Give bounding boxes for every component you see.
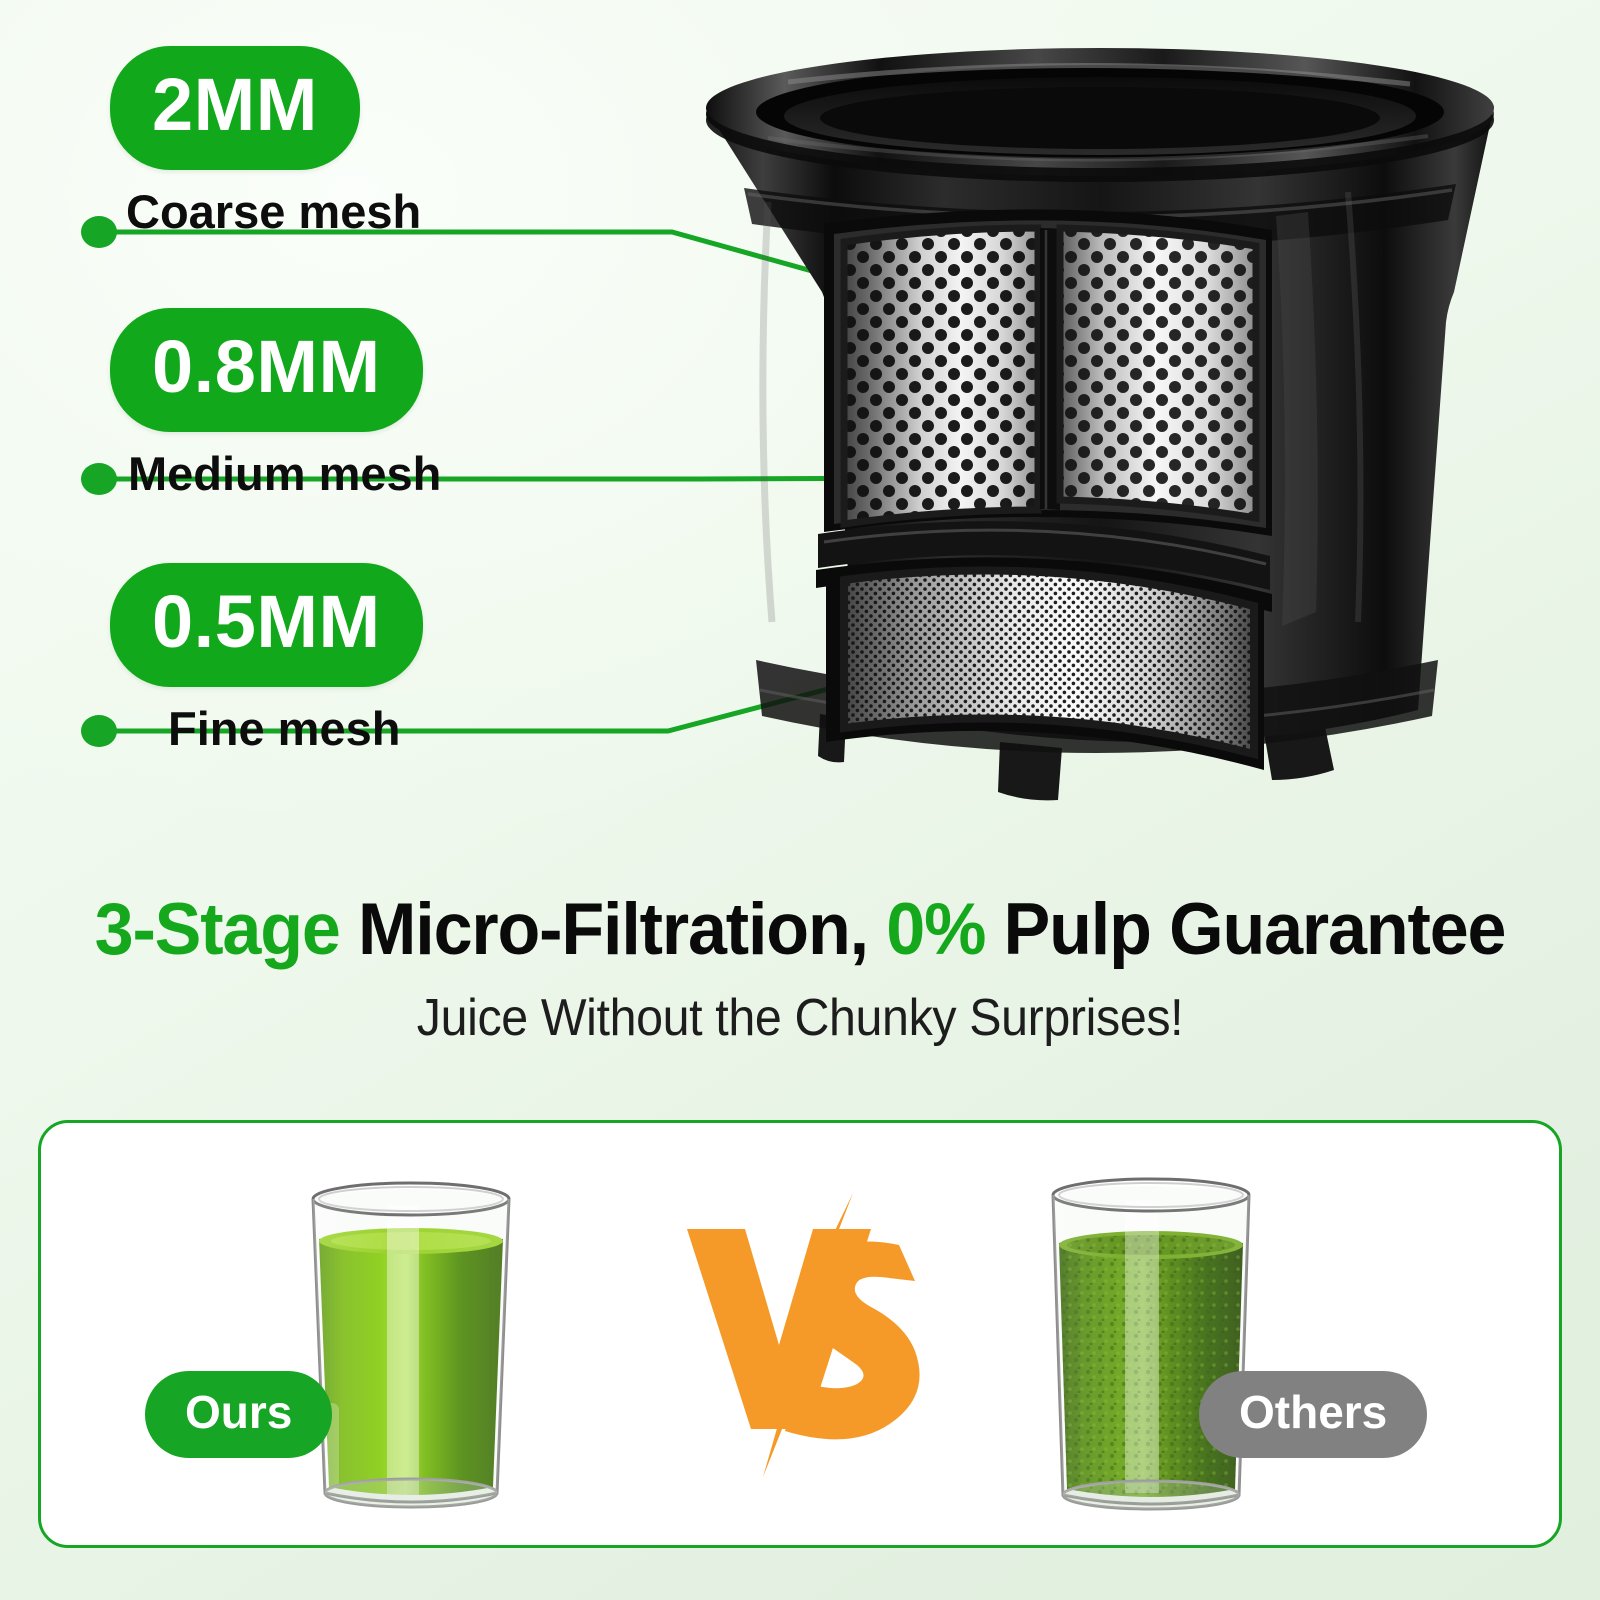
- comparison-panel: Ours: [38, 1120, 1562, 1548]
- callout-fine-mesh: 0.5MM Fine mesh: [110, 563, 423, 752]
- ours-glass-illustration: [261, 1153, 561, 1523]
- callout-coarse-mesh: 2MM Coarse mesh: [110, 46, 421, 235]
- headline-part-zero: 0%: [886, 889, 985, 970]
- infographic-stage: 2MM Coarse mesh 0.8MM Medium mesh 0.5MM …: [0, 0, 1600, 1600]
- headline-part-pulp: Pulp Guarantee: [985, 889, 1505, 970]
- vs-icon: [667, 1185, 947, 1485]
- headline-part-micro: Micro-Filtration,: [340, 889, 887, 970]
- page-subtitle: Juice Without the Chunky Surprises!: [56, 988, 1544, 1048]
- vs-lightning-icon: [667, 1185, 947, 1485]
- juicer-filter-basket-illustration: [648, 42, 1548, 802]
- headline-block: 3-Stage Micro-Filtration, 0% Pulp Guaran…: [0, 893, 1600, 1048]
- others-glass-illustration: [1001, 1153, 1301, 1523]
- others-badge: Others: [1199, 1371, 1427, 1458]
- callout-medium-size-pill: 0.8MM: [110, 308, 423, 432]
- callout-fine-size-pill: 0.5MM: [110, 563, 423, 687]
- others-juice-glass: [1001, 1153, 1301, 1523]
- ours-badge: Ours: [145, 1371, 332, 1458]
- juicer-filter-basket-image: [648, 42, 1548, 802]
- callout-coarse-size-pill: 2MM: [110, 46, 360, 170]
- callout-fine-label: Fine mesh: [168, 705, 423, 752]
- callout-coarse-label: Coarse mesh: [126, 188, 421, 235]
- callout-medium-label: Medium mesh: [128, 450, 441, 497]
- page-title: 3-Stage Micro-Filtration, 0% Pulp Guaran…: [32, 893, 1568, 966]
- callout-medium-mesh: 0.8MM Medium mesh: [110, 308, 441, 497]
- ours-juice-glass: [261, 1153, 561, 1523]
- headline-part-3stage: 3-Stage: [95, 889, 340, 970]
